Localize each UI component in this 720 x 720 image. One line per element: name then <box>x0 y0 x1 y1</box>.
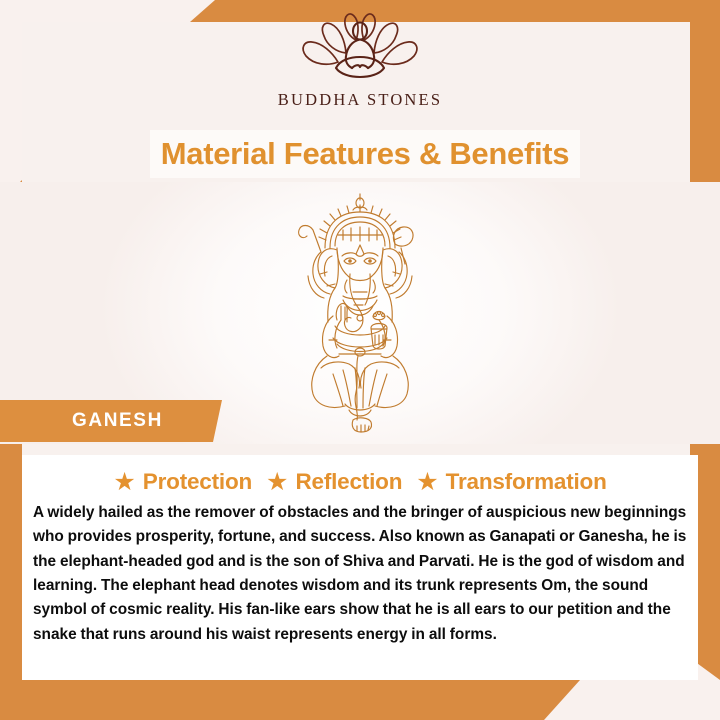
decor-bar-bottom <box>0 680 580 720</box>
star-icon: ★ <box>113 470 135 495</box>
poster-root: BUDDHA STONES Material Features & Benefi… <box>0 0 720 720</box>
ganesha-line-art-icon <box>265 188 455 438</box>
description-text: A widely hailed as the remover of obstac… <box>30 501 690 647</box>
deity-name-banner: GANESH <box>0 400 222 442</box>
keyword-label: Protection <box>143 469 252 495</box>
keyword-list: ★ Protection ★ Reflection ★ Transformati… <box>30 469 690 495</box>
brand-name: BUDDHA STONES <box>0 90 720 110</box>
keyword-item-protection: ★ Protection <box>113 469 252 495</box>
content-card: ★ Protection ★ Reflection ★ Transformati… <box>22 455 698 680</box>
star-icon: ★ <box>266 470 288 495</box>
brand-logo-block: BUDDHA STONES <box>0 8 720 110</box>
keyword-label: Transformation <box>446 469 607 495</box>
keyword-item-reflection: ★ Reflection <box>266 469 402 495</box>
lotus-meditation-icon <box>290 8 430 88</box>
star-icon: ★ <box>416 470 438 495</box>
page-title-band: Material Features & Benefits <box>150 130 580 178</box>
keyword-label: Reflection <box>295 469 402 495</box>
deity-name: GANESH <box>72 410 163 432</box>
page-title: Material Features & Benefits <box>161 136 570 172</box>
keyword-item-transformation: ★ Transformation <box>416 469 606 495</box>
